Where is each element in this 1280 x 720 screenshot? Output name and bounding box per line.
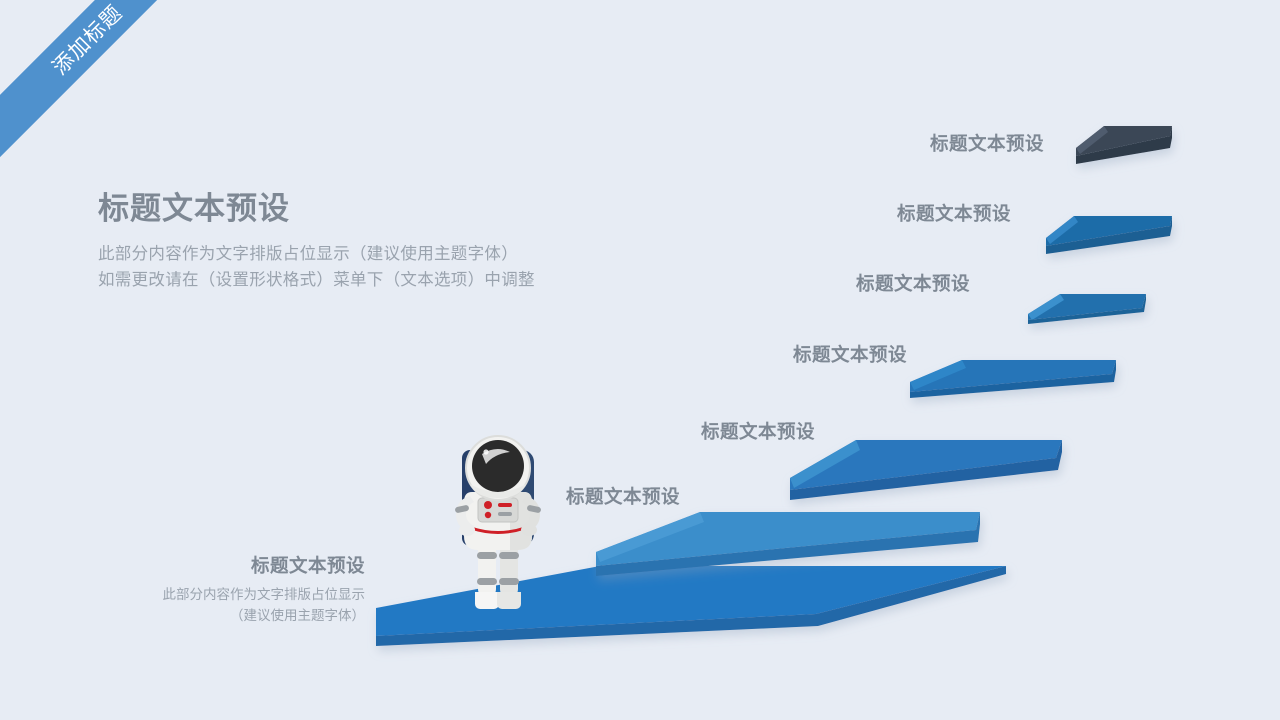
caption-block-step-1: 标题文本预设 此部分内容作为文字排版占位显示 （建议使用主题字体） bbox=[100, 552, 365, 627]
slide-canvas: 添加标题 bbox=[0, 0, 1280, 720]
astronaut-visor bbox=[472, 440, 524, 492]
step-label-3: 标题文本预设 bbox=[701, 418, 815, 444]
step-shape-5 bbox=[1028, 294, 1146, 324]
step-label-4: 标题文本预设 bbox=[793, 341, 907, 367]
step-shape-4 bbox=[910, 360, 1116, 398]
step-label-2: 标题文本预设 bbox=[566, 483, 680, 509]
step-label-6: 标题文本预设 bbox=[897, 200, 1011, 226]
step-label-7: 标题文本预设 bbox=[930, 130, 1044, 156]
astronaut-chest-panel bbox=[478, 498, 518, 522]
astronaut-helmet bbox=[466, 436, 530, 500]
step-shape-3 bbox=[790, 440, 1062, 500]
headline-block: 标题文本预设 此部分内容作为文字排版占位显示（建议使用主题字体） 如需更改请在（… bbox=[98, 190, 658, 294]
astronaut-figure bbox=[440, 432, 556, 612]
step-shape-7 bbox=[1076, 126, 1172, 164]
step-label-1: 标题文本预设 bbox=[100, 552, 365, 578]
headline-body-line-1: 此部分内容作为文字排版占位显示（建议使用主题字体） bbox=[98, 241, 658, 268]
step-shape-6 bbox=[1046, 216, 1172, 254]
headline-body-line-2: 如需更改请在（设置形状格式）菜单下（文本选项）中调整 bbox=[98, 267, 658, 294]
step-label-5: 标题文本预设 bbox=[856, 270, 970, 296]
caption-body-line-2: （建议使用主题字体） bbox=[100, 606, 365, 627]
caption-body-line-1: 此部分内容作为文字排版占位显示 bbox=[100, 585, 365, 606]
page-title: 标题文本预设 bbox=[98, 190, 658, 229]
astronaut-legs bbox=[475, 540, 521, 609]
